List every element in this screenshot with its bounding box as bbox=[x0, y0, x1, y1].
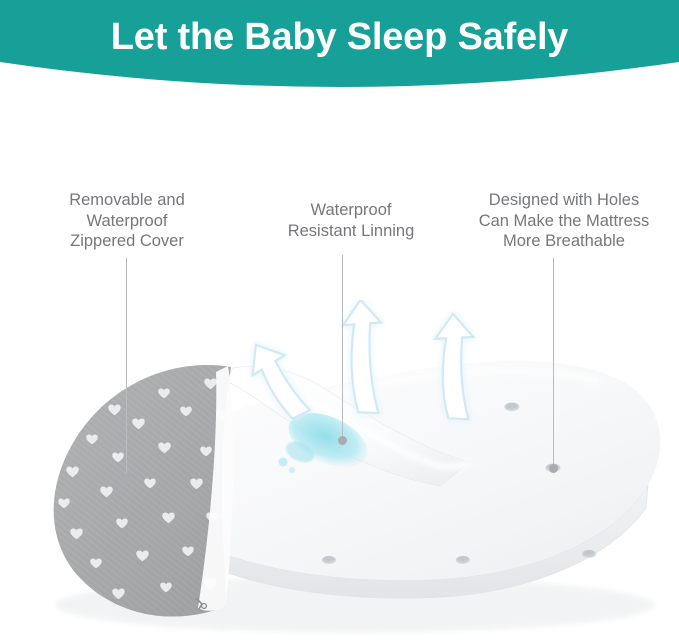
leader-line-cover bbox=[126, 258, 127, 478]
callout-label-cover-line-3: Zippered Cover bbox=[46, 231, 208, 252]
callout-label-holes-line-1: Designed with Holes bbox=[464, 190, 664, 211]
product-illustration bbox=[0, 300, 679, 641]
callout-label-cover-line-1: Removable and bbox=[46, 190, 208, 211]
callout-label-lining: Waterproof Resistant Linning bbox=[265, 200, 437, 241]
callout-label-cover-line-2: Waterproof bbox=[46, 211, 208, 232]
infographic-canvas: Let the Baby Sleep Safely Removable and … bbox=[0, 0, 679, 641]
callout-label-cover: Removable and Waterproof Zippered Cover bbox=[46, 190, 208, 252]
callout-label-holes: Designed with Holes Can Make the Mattres… bbox=[464, 190, 664, 252]
leader-dot-lining bbox=[338, 436, 347, 445]
leader-line-holes bbox=[553, 258, 554, 468]
callout-label-lining-line-2: Resistant Linning bbox=[265, 221, 437, 242]
callout-label-holes-line-2: Can Make the Mattress bbox=[464, 211, 664, 232]
mattress-illustration bbox=[0, 300, 679, 641]
leader-line-lining bbox=[342, 255, 343, 440]
callout-label-lining-line-1: Waterproof bbox=[265, 200, 437, 221]
leader-dot-holes bbox=[549, 464, 558, 473]
leader-dot-cover bbox=[122, 474, 131, 483]
page-title: Let the Baby Sleep Safely bbox=[0, 14, 679, 60]
gray-zippered-cover bbox=[54, 365, 234, 617]
header-banner: Let the Baby Sleep Safely bbox=[0, 0, 679, 110]
callout-label-holes-line-3: More Breathable bbox=[464, 231, 664, 252]
